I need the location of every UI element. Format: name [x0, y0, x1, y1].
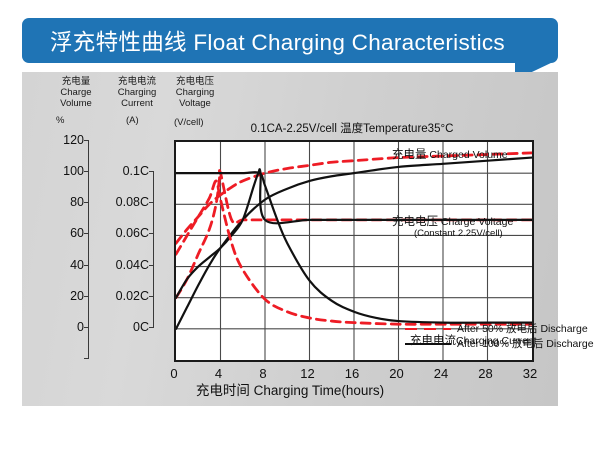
axis-tick-label-charging-current-2: 0.04C — [89, 258, 149, 272]
chart-legend: After 50% 放电后 Discharge After 100% 放电后 D… — [405, 321, 594, 351]
legend-label-after-100: After 100% 放电后 Discharge — [457, 338, 594, 350]
legend-item-after-50: After 50% 放电后 Discharge — [405, 321, 594, 336]
axis-unit-ampere: (A) — [126, 115, 139, 126]
axis-tick-label-charge-volume-3: 60 — [24, 226, 84, 240]
legend-swatch-dashed-icon — [405, 323, 451, 335]
page-title: 浮充特性曲线 Float Charging Characteristics — [50, 25, 505, 57]
axis-tick-label-charge-volume-1: 20 — [24, 289, 84, 303]
axis-head-charging-current-en2: Current — [108, 98, 166, 109]
annotation-charge-voltage-sub: (Constant 2.25V/cell) — [414, 228, 503, 239]
axis-head-charge-volume: 充电量 Charge Volume — [48, 76, 104, 110]
legend-swatch-solid-icon — [405, 338, 451, 350]
axis-rail-foot-1 — [149, 327, 154, 328]
axis-tick-label-charge-volume-2: 40 — [24, 258, 84, 272]
axis-head-charging-voltage-cn: 充电电压 — [168, 76, 222, 87]
axis-rail-foot-0 — [84, 358, 89, 359]
axis-head-charging-current-en1: Charging — [108, 87, 166, 98]
axis-tick-label-charge-volume-0: 0 — [24, 320, 84, 334]
axis-tick-label-charging-current-3: 0.06C — [89, 226, 149, 240]
title-banner-body: 浮充特性曲线 Float Charging Characteristics — [22, 18, 558, 63]
axis-head-charge-volume-en2: Volume — [48, 98, 104, 109]
axis-unit-percent: % — [56, 115, 64, 126]
legend-item-after-100: After 100% 放电后 Discharge — [405, 336, 594, 351]
axis-tick-label-charge-volume-4: 80 — [24, 195, 84, 209]
axis-head-charging-voltage-en1: Charging — [168, 87, 222, 98]
axis-tick-label-charge-volume-6: 120 — [24, 133, 84, 147]
axis-tick-label-charging-current-0: 0C — [89, 320, 149, 334]
axis-tick-label-charging-current-4: 0.08C — [89, 195, 149, 209]
axis-head-charge-volume-cn: 充电量 — [48, 76, 104, 87]
axis-tick-label-charge-volume-5: 100 — [24, 164, 84, 178]
chart-figure: 充电量 Charge Volume 充电电流 Charging Current … — [22, 72, 558, 406]
axis-head-charge-volume-en1: Charge — [48, 87, 104, 98]
legend-label-after-50: After 50% 放电后 Discharge — [457, 323, 588, 335]
axis-head-charging-voltage: 充电电压 Charging Voltage — [168, 76, 222, 110]
axis-head-charging-current: 充电电流 Charging Current — [108, 76, 166, 110]
axis-tick-charge-volume-6 — [84, 140, 89, 141]
title-banner: 浮充特性曲线 Float Charging Characteristics — [22, 18, 558, 63]
chart-condition-label: 0.1CA-2.25V/cell 温度Temperature35°C — [174, 120, 530, 136]
axis-head-charging-current-cn: 充电电流 — [108, 76, 166, 87]
x-axis-title: 充电时间 Charging Time(hours) — [22, 379, 558, 399]
axis-tick-label-charging-current-1: 0.02C — [89, 289, 149, 303]
axis-head-charging-voltage-en2: Voltage — [168, 98, 222, 109]
axis-tick-label-charging-current-5: 0.1C — [89, 164, 149, 178]
